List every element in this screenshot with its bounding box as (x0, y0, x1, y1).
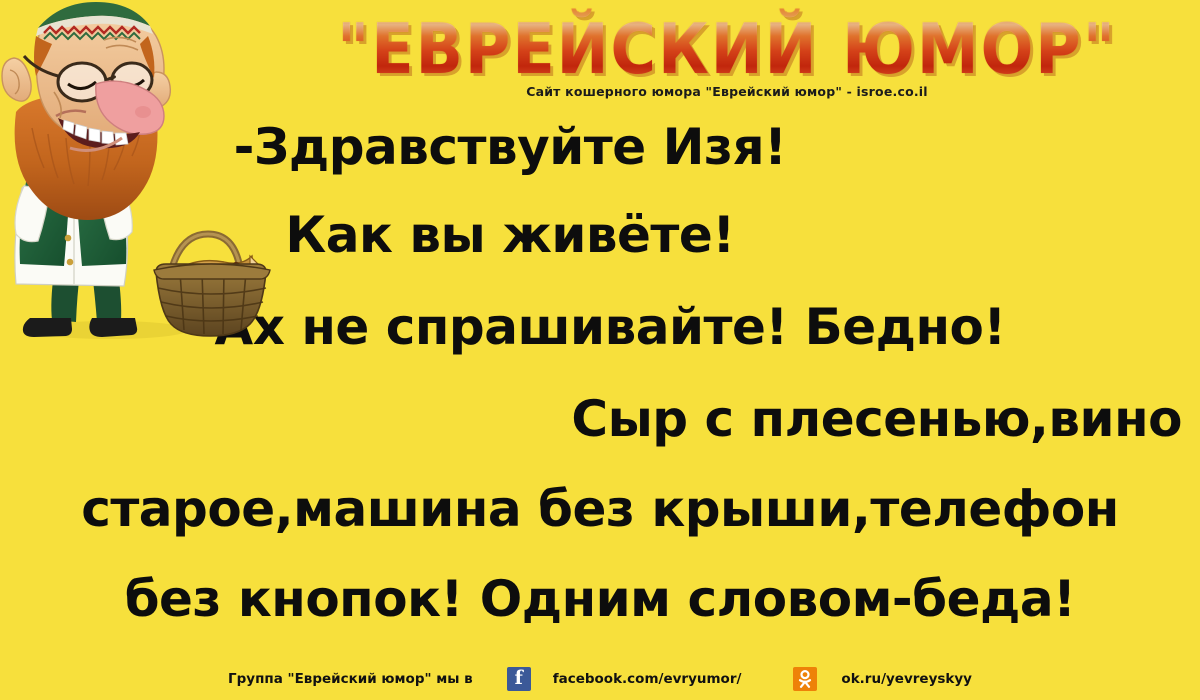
facebook-url[interactable]: facebook.com/evryumor/ (553, 671, 742, 687)
joke-line-1: -Здравствуйте Изя! (0, 122, 1020, 172)
joke-text-block: -Здравствуйте Изя! Как вы живёте! -Ах не… (0, 112, 1200, 652)
site-subtitle: Сайт кошерного юмора "Еврейский юмор" - … (262, 84, 1192, 99)
odnoklassniki-icon[interactable] (793, 667, 817, 691)
joke-line-3: -Ах не спрашивайте! Бедно! (0, 302, 1200, 352)
joke-line-4: Сыр с плесенью,вино (0, 394, 1200, 444)
joke-line-6: без кнопок! Одним словом-беда! (0, 574, 1200, 624)
site-header: "ЕВРЕЙСКИЙ ЮМОР" "ЕВРЕЙСКИЙ ЮМОР" Сайт к… (0, 0, 1200, 108)
facebook-icon[interactable]: f (507, 667, 531, 691)
footer-group-label: Группа "Еврейский юмор" мы в (228, 671, 473, 687)
joke-line-2: Как вы живёте! (0, 210, 1020, 260)
odnoklassniki-url[interactable]: ok.ru/yevreyskyy (841, 671, 972, 687)
footer-social-bar: Группа "Еврейский юмор" мы в f facebook.… (0, 664, 1200, 694)
joke-poster: "ЕВРЕЙСКИЙ ЮМОР" "ЕВРЕЙСКИЙ ЮМОР" Сайт к… (0, 0, 1200, 700)
joke-line-5: старое,машина без крыши,телефон (0, 484, 1200, 534)
site-title: "ЕВРЕЙСКИЙ ЮМОР" (262, 8, 1192, 91)
